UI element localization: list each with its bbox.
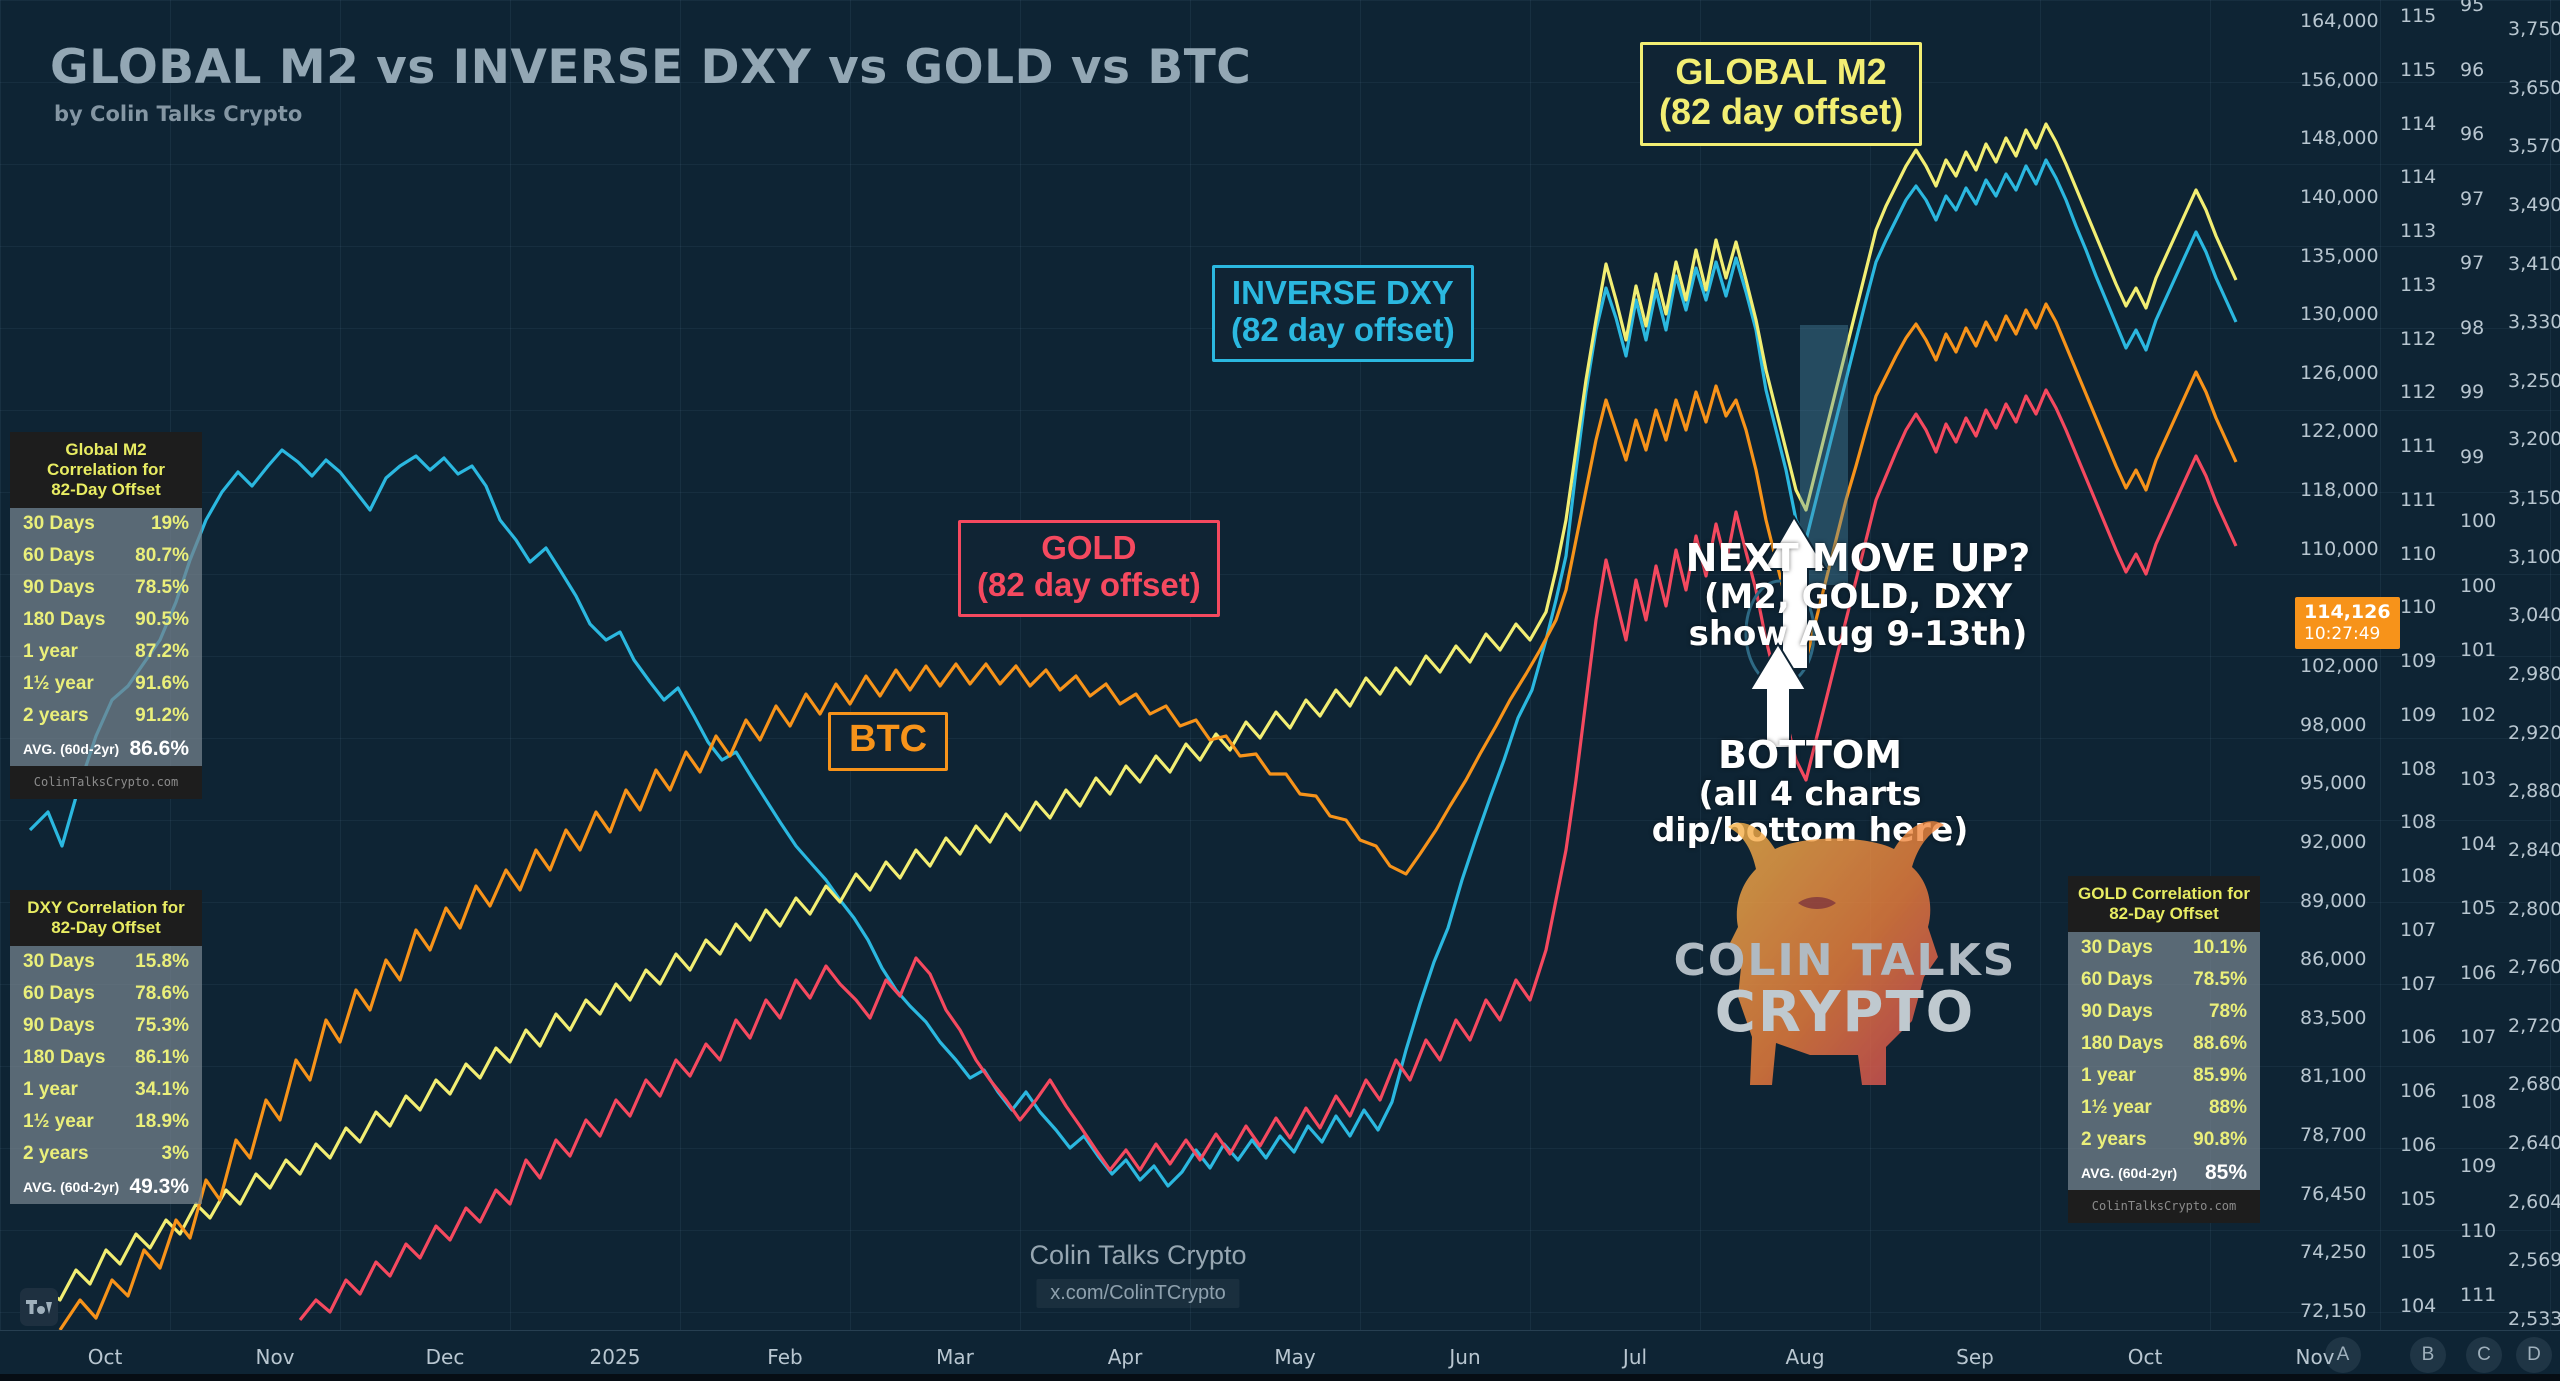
corr-title-line1: GOLD Correlation for [2072, 884, 2256, 904]
row-value: 78.5% [135, 577, 189, 599]
table-row: 60 Days80.7% [10, 540, 202, 572]
footer-bar [0, 1374, 2560, 1381]
axis-a-tick: 156,000 [2300, 69, 2379, 91]
axis-b-tick: 104 [2400, 1295, 2436, 1317]
row-label: 2 years [23, 705, 89, 727]
row-value: 88% [2209, 1097, 2247, 1119]
table-row: 2 years3% [10, 1138, 202, 1170]
row-value: 91.2% [135, 705, 189, 727]
row-label: 60 Days [2081, 969, 2153, 991]
axis-d-tick: 3,250 [2508, 370, 2560, 392]
axis-b-tick: 110 [2400, 596, 2436, 618]
correlation-table-global-m2-body: 30 Days19% 60 Days80.7% 90 Days78.5% 180… [10, 508, 202, 766]
axis-c-tick: 97 [2460, 188, 2484, 210]
row-value: 86.1% [135, 1047, 189, 1069]
axis-d-tick: 2,760 [2508, 956, 2560, 978]
axis-a-tick: 74,250 [2300, 1241, 2366, 1263]
axis-a-tick: 130,000 [2300, 303, 2379, 325]
axis-c-tick: 96 [2460, 59, 2484, 81]
row-value: 3% [162, 1143, 189, 1165]
axis-d-tick: 3,040 [2508, 604, 2560, 626]
row-label: 1 year [23, 1079, 78, 1101]
correlation-table-dxy-title: DXY Correlation for 82-Day Offset [10, 890, 202, 946]
date-axis-tick: Apr [1108, 1345, 1143, 1369]
callout-global-m2-line1: GLOBAL M2 [1659, 52, 1903, 92]
axis-a-tick: 122,000 [2300, 420, 2379, 442]
date-axis-tick: Sep [1956, 1345, 1994, 1369]
row-label: 180 Days [23, 1047, 105, 1069]
axis-a-tick: 135,000 [2300, 245, 2379, 267]
axis-d-tick: 3,410 [2508, 253, 2560, 275]
axis-a-tick: 72,150 [2300, 1300, 2366, 1322]
axis-d-tick: 2,569 [2508, 1249, 2560, 1271]
corr-title-line2: 82-Day Offset [2072, 904, 2256, 924]
corr-title-line1: Global M2 [14, 440, 198, 460]
axis-c-tick: 99 [2460, 381, 2484, 403]
axis-c-tick: 105 [2460, 897, 2496, 919]
axis-d-tick: 2,980 [2508, 663, 2560, 685]
callout-inverse-dxy: INVERSE DXY (82 day offset) [1212, 265, 1474, 362]
table-row: 1½ year91.6% [10, 668, 202, 700]
axis-b-tick: 113 [2400, 274, 2436, 296]
axis-a-tick: 89,000 [2300, 890, 2366, 912]
axis-d-tick: 2,604 [2508, 1191, 2560, 1213]
axis-d-tick: 3,100 [2508, 546, 2560, 568]
table-row: 2 years91.2% [10, 700, 202, 732]
axis-d-tick: 3,200 [2508, 428, 2560, 450]
axis-b-tick: 109 [2400, 650, 2436, 672]
table-row-average: AVG. (60d-2yr)85% [2068, 1156, 2260, 1190]
callout-inverse-dxy-line1: INVERSE DXY [1231, 275, 1455, 312]
row-label: 30 Days [2081, 937, 2153, 959]
table-row: 90 Days78% [2068, 996, 2260, 1028]
date-axis-tick: Jun [1449, 1345, 1480, 1369]
row-label: 30 Days [23, 951, 95, 973]
axis-a-tick: 76,450 [2300, 1183, 2366, 1205]
axis-a-tick: 118,000 [2300, 479, 2379, 501]
axis-d-tick: 3,650 [2508, 77, 2560, 99]
axis-c-tick: 100 [2460, 575, 2496, 597]
row-value: 90.8% [2193, 1129, 2247, 1151]
table-row: 30 Days10.1% [2068, 932, 2260, 964]
table-row: 180 Days88.6% [2068, 1028, 2260, 1060]
row-label: AVG. (60d-2yr) [23, 1179, 119, 1195]
axis-c-tick: 108 [2460, 1091, 2496, 1113]
axis-b-tick: 109 [2400, 704, 2436, 726]
row-label: 1½ year [23, 673, 94, 695]
corr-title-line1: DXY Correlation for [14, 898, 198, 918]
axis-d-tick: 2,720 [2508, 1015, 2560, 1037]
annotation-next-move: NEXT MOVE UP? (M2, GOLD, DXY show Aug 9-… [1686, 538, 2031, 652]
axis-c-tick: 107 [2460, 1026, 2496, 1048]
row-label: 180 Days [23, 609, 105, 631]
correlation-table-dxy-body: 30 Days15.8% 60 Days78.6% 90 Days75.3% 1… [10, 946, 202, 1204]
tradingview-logo-icon[interactable] [20, 1288, 58, 1326]
price-series-svg [0, 0, 2290, 1355]
axis-d-tick: 2,800 [2508, 898, 2560, 920]
axis-d-tick: 3,150 [2508, 487, 2560, 509]
callout-global-m2: GLOBAL M2 (82 day offset) [1640, 42, 1922, 146]
axis-a-tick: 81,100 [2300, 1065, 2366, 1087]
axis-b-tick: 107 [2400, 973, 2436, 995]
table-row-average: AVG. (60d-2yr)49.3% [10, 1170, 202, 1204]
row-value: 88.6% [2193, 1033, 2247, 1055]
axis-a-tick: 110,000 [2300, 538, 2379, 560]
row-value: 10.1% [2193, 937, 2247, 959]
axis-d-tick: 2,840 [2508, 839, 2560, 861]
date-axis-tick: Aug [1785, 1345, 1824, 1369]
row-value: 78% [2209, 1001, 2247, 1023]
row-label: 30 Days [23, 513, 95, 535]
row-value: 49.3% [129, 1175, 189, 1199]
brand-logo-line2: CRYPTO [1635, 980, 2055, 1045]
callout-global-m2-line2: (82 day offset) [1659, 92, 1903, 132]
row-label: 60 Days [23, 983, 95, 1005]
axis-b-tick: 114 [2400, 166, 2436, 188]
row-label: 1 year [2081, 1065, 2136, 1087]
row-label: 90 Days [23, 1015, 95, 1037]
table-row: 180 Days86.1% [10, 1042, 202, 1074]
axis-b-tick: 115 [2400, 59, 2436, 81]
current-price-value: 114,126 [2304, 601, 2391, 623]
page-subtitle: by Colin Talks Crypto [50, 102, 1251, 126]
row-value: 85.9% [2193, 1065, 2247, 1087]
watermark-name: Colin Talks Crypto [1029, 1240, 1246, 1271]
current-price-badge: 114,126 10:27:49 [2295, 597, 2400, 649]
row-label: 2 years [23, 1143, 89, 1165]
axis-c-tick: 95 [2460, 0, 2484, 16]
row-value: 34.1% [135, 1079, 189, 1101]
axis-b-tick: 108 [2400, 865, 2436, 887]
axis-a-tick: 92,000 [2300, 831, 2366, 853]
axis-b-tick: 106 [2400, 1026, 2436, 1048]
axis-a-tick: 98,000 [2300, 714, 2366, 736]
row-label: 2 years [2081, 1129, 2147, 1151]
correlation-table-global-m2-footer: ColinTalksCrypto.com [10, 766, 202, 799]
axis-b-tick: 106 [2400, 1134, 2436, 1156]
axis-c-tick: 102 [2460, 704, 2496, 726]
corr-title-line2: 82-Day Offset [14, 918, 198, 938]
callout-gold-line1: GOLD [977, 530, 1201, 567]
annotation-next-move-line1: NEXT MOVE UP? [1686, 538, 2031, 579]
axis-d-tick: 2,880 [2508, 780, 2560, 802]
row-value: 85% [2205, 1161, 2247, 1185]
date-axis-tick: 2025 [590, 1345, 641, 1369]
correlation-table-gold-title: GOLD Correlation for 82-Day Offset [2068, 876, 2260, 932]
axis-a-tick: 95,000 [2300, 772, 2366, 794]
correlation-table-global-m2: Global M2 Correlation for 82-Day Offset … [10, 432, 202, 799]
axis-d-tick: 2,640 [2508, 1132, 2560, 1154]
axis-d-tick: 2,533 [2508, 1308, 2560, 1330]
axis-c-tick: 110 [2460, 1220, 2496, 1242]
axis-a-tick: 148,000 [2300, 127, 2379, 149]
annotation-bottom-line1: BOTTOM [1652, 735, 1969, 776]
axis-scale-button-a[interactable]: A [2325, 1337, 2361, 1373]
axis-b-tick: 113 [2400, 220, 2436, 242]
axis-c-tick: 109 [2460, 1155, 2496, 1177]
axis-b-tick: 112 [2400, 328, 2436, 350]
date-axis-tick: Oct [88, 1345, 123, 1369]
row-value: 18.9% [135, 1111, 189, 1133]
axis-b-tick: 111 [2400, 435, 2436, 457]
callout-btc: BTC [828, 712, 948, 771]
date-axis-tick: Oct [2128, 1345, 2163, 1369]
callout-inverse-dxy-line2: (82 day offset) [1231, 312, 1455, 349]
chart-plot-area[interactable] [0, 0, 2290, 1355]
page-title: GLOBAL M2 vs INVERSE DXY vs GOLD vs BTC [50, 40, 1251, 95]
correlation-table-global-m2-title: Global M2 Correlation for 82-Day Offset [10, 432, 202, 508]
row-label: 60 Days [23, 545, 95, 567]
table-row: 30 Days19% [10, 508, 202, 540]
axis-b-tick: 106 [2400, 1080, 2436, 1102]
row-label: 90 Days [2081, 1001, 2153, 1023]
correlation-table-gold-footer: ColinTalksCrypto.com [2068, 1190, 2260, 1223]
annotation-next-move-line2: (M2, GOLD, DXY [1704, 577, 2012, 617]
axis-c-tick: 98 [2460, 317, 2484, 339]
axis-b-tick: 105 [2400, 1188, 2436, 1210]
callout-gold: GOLD (82 day offset) [958, 520, 1220, 617]
row-label: 1½ year [23, 1111, 94, 1133]
row-value: 90.5% [135, 609, 189, 631]
axis-b-tick: 108 [2400, 758, 2436, 780]
row-label: AVG. (60d-2yr) [23, 741, 119, 757]
axis-d-tick: 2,680 [2508, 1073, 2560, 1095]
table-row: 1½ year88% [2068, 1092, 2260, 1124]
axis-scale-button-d[interactable]: D [2516, 1337, 2552, 1373]
row-value: 91.6% [135, 673, 189, 695]
axis-c-tick: 111 [2460, 1284, 2496, 1306]
axis-b-tick: 112 [2400, 381, 2436, 403]
axis-b-tick: 108 [2400, 811, 2436, 833]
axis-a-tick: 164,000 [2300, 10, 2379, 32]
table-row: 1½ year18.9% [10, 1106, 202, 1138]
row-value: 78.6% [135, 983, 189, 1005]
row-label: 90 Days [23, 577, 95, 599]
axis-d-tick: 3,750 [2508, 18, 2560, 40]
correlation-table-gold: GOLD Correlation for 82-Day Offset 30 Da… [2068, 876, 2260, 1223]
date-axis-tick: May [1274, 1345, 1315, 1369]
date-axis-tick: Dec [426, 1345, 465, 1369]
axis-a-tick: 140,000 [2300, 186, 2379, 208]
row-value: 19% [151, 513, 189, 535]
axis-a-tick: 83,500 [2300, 1007, 2366, 1029]
row-value: 15.8% [135, 951, 189, 973]
axis-c-tick: 97 [2460, 252, 2484, 274]
axis-b-tick: 107 [2400, 919, 2436, 941]
series-line-global-m2 [30, 124, 2236, 1310]
row-value: 80.7% [135, 545, 189, 567]
table-row: 90 Days78.5% [10, 572, 202, 604]
watermark-center: Colin Talks Crypto x.com/ColinTCrypto [1029, 1240, 1246, 1308]
axis-c-tick: 104 [2460, 833, 2496, 855]
axis-scale-button-c[interactable]: C [2466, 1337, 2502, 1373]
axis-d-tick: 3,490 [2508, 194, 2560, 216]
table-row: 2 years90.8% [2068, 1124, 2260, 1156]
current-price-time: 10:27:49 [2304, 624, 2391, 644]
table-row: 180 Days90.5% [10, 604, 202, 636]
chart-header: GLOBAL M2 vs INVERSE DXY vs GOLD vs BTC … [50, 40, 1251, 126]
date-axis-tick: Nov [255, 1345, 294, 1369]
axis-b-tick: 111 [2400, 489, 2436, 511]
axis-c-tick: 101 [2460, 639, 2496, 661]
row-value: 86.6% [129, 737, 189, 761]
row-label: AVG. (60d-2yr) [2081, 1165, 2177, 1181]
axis-c-tick: 99 [2460, 446, 2484, 468]
row-label: 1½ year [2081, 1097, 2152, 1119]
date-axis-tick: Mar [936, 1345, 974, 1369]
table-row: 60 Days78.6% [10, 978, 202, 1010]
axis-a-tick: 86,000 [2300, 948, 2366, 970]
row-value: 78.5% [2193, 969, 2247, 991]
table-row: 1 year85.9% [2068, 1060, 2260, 1092]
axis-c-tick: 106 [2460, 962, 2496, 984]
axis-b-tick: 114 [2400, 113, 2436, 135]
table-row: 30 Days15.8% [10, 946, 202, 978]
callout-btc-line1: BTC [849, 718, 927, 761]
row-label: 180 Days [2081, 1033, 2163, 1055]
axis-a-tick: 78,700 [2300, 1124, 2366, 1146]
axis-b-tick: 105 [2400, 1241, 2436, 1263]
corr-title-line3: 82-Day Offset [14, 480, 198, 500]
axis-c-tick: 100 [2460, 510, 2496, 532]
axis-c-tick: 96 [2460, 123, 2484, 145]
table-row: 1 year87.2% [10, 636, 202, 668]
axis-d-tick: 3,330 [2508, 311, 2560, 333]
row-value: 87.2% [135, 641, 189, 663]
table-row: 60 Days78.5% [2068, 964, 2260, 996]
corr-title-line2: Correlation for [14, 460, 198, 480]
date-axis-tick: Jul [1623, 1345, 1647, 1369]
row-value: 75.3% [135, 1015, 189, 1037]
watermark-url: x.com/ColinTCrypto [1036, 1279, 1240, 1308]
date-axis-tick: Feb [767, 1345, 802, 1369]
axis-a-tick: 126,000 [2300, 362, 2379, 384]
axis-d-tick: 3,570 [2508, 135, 2560, 157]
axis-d-tick: 2,920 [2508, 722, 2560, 744]
table-row: 1 year34.1% [10, 1074, 202, 1106]
correlation-table-gold-body: 30 Days10.1% 60 Days78.5% 90 Days78% 180… [2068, 932, 2260, 1190]
table-row: 90 Days75.3% [10, 1010, 202, 1042]
axis-c-tick: 103 [2460, 768, 2496, 790]
axis-b-tick: 115 [2400, 5, 2436, 27]
brand-logo: COLIN TALKS CRYPTO [1635, 935, 2055, 1045]
correlation-table-dxy: DXY Correlation for 82-Day Offset 30 Day… [10, 890, 202, 1204]
brand-logo-line1: COLIN TALKS [1635, 935, 2055, 986]
callout-gold-line2: (82 day offset) [977, 567, 1201, 604]
axis-b-tick: 110 [2400, 543, 2436, 565]
row-label: 1 year [23, 641, 78, 663]
table-row-average: AVG. (60d-2yr)86.6% [10, 732, 202, 766]
axis-a-tick: 102,000 [2300, 655, 2379, 677]
axis-scale-button-b[interactable]: B [2410, 1337, 2446, 1373]
